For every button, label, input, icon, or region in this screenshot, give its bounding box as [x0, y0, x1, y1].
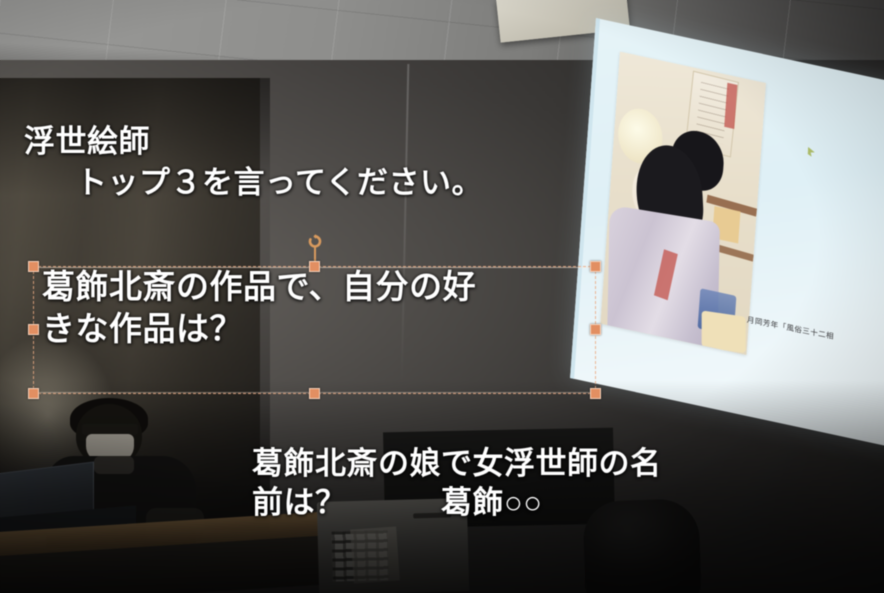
overlay-line-2: 前は？ 葛飾○○: [252, 483, 812, 523]
person-collar: [94, 456, 134, 474]
overlay-line-1: 浮世絵師: [24, 124, 150, 159]
overlay-text-block-2-selected[interactable]: 葛飾北斎の作品で、自分の好 きな作品は？: [42, 266, 602, 350]
overlay-line-1: 葛飾北斎の娘で女浮世師の名: [252, 446, 662, 481]
overlay-text-block-1[interactable]: 浮世絵師 トップ３を言ってください。: [24, 82, 483, 243]
overlay-text-block-3[interactable]: 葛飾北斎の娘で女浮世師の名 前は？ 葛飾○○: [252, 404, 812, 563]
screenshot-canvas: 月岡芳年「風俗三十二相 浮世絵師 トップ３を言ってください。 葛: [0, 0, 884, 593]
ukiyoe-print-image: [600, 52, 766, 355]
red-banner: [724, 83, 737, 129]
overlay-line-2: トップ３を言ってください。: [76, 163, 483, 203]
cream-vessel: [702, 310, 746, 353]
projection-screen: 月岡芳年「風俗三十二相: [570, 18, 884, 449]
